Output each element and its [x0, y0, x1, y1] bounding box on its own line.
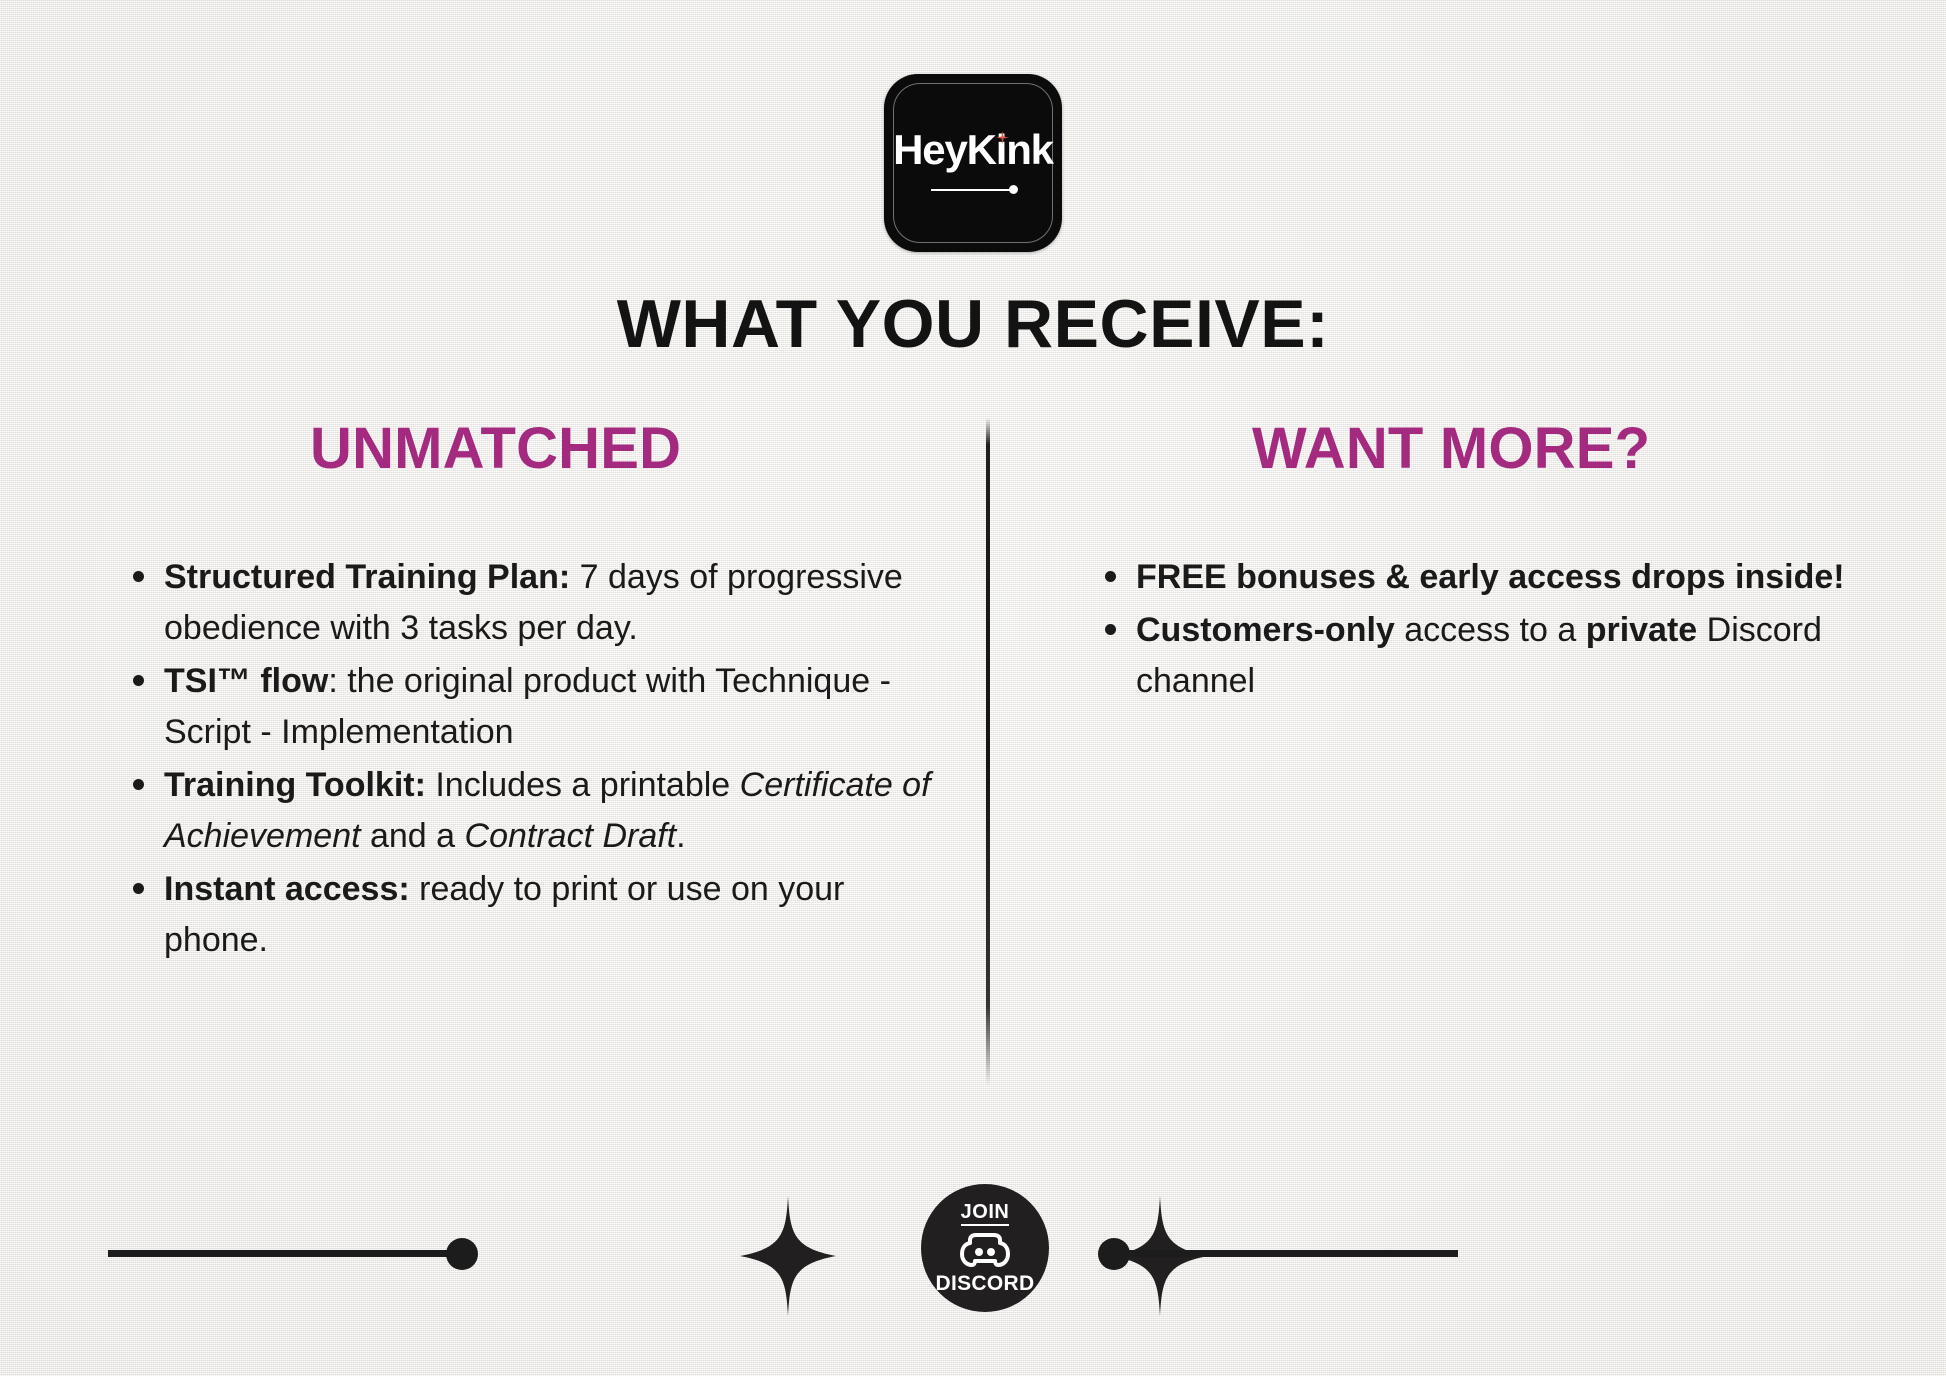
- list-item: FREE bonuses & early access drops inside…: [1136, 552, 1896, 603]
- list-item-tail: .: [676, 817, 685, 855]
- list-item: Structured Training Plan: 7 days of prog…: [164, 552, 954, 654]
- list-item: TSI™ flow: the original product with Tec…: [164, 656, 954, 758]
- sparkle-icon: [740, 1196, 836, 1316]
- bullet-dot-icon: [133, 571, 144, 582]
- bullet-dot-icon: [133, 779, 144, 790]
- column-divider: [986, 418, 990, 1086]
- join-discord-badge[interactable]: JOIN DISCORD: [921, 1184, 1049, 1312]
- promo-poster: HeyKink WHAT YOU RECEIVE: UNMATCHED WANT…: [0, 0, 1946, 1376]
- decorative-rule-right: [1128, 1250, 1458, 1257]
- bullet-dot-icon: [133, 675, 144, 686]
- page-title: WHAT YOU RECEIVE:: [0, 290, 1946, 358]
- list-item-lead: FREE bonuses & early access drops inside…: [1136, 558, 1845, 596]
- decorative-rule-left: [108, 1250, 456, 1257]
- discord-logo-icon: [958, 1230, 1012, 1270]
- list-item: Instant access: ready to print or use on…: [164, 864, 954, 966]
- list-item-bold-two: private: [1586, 611, 1698, 649]
- logo-underline-dot-icon: [1009, 185, 1018, 194]
- left-column-heading: UNMATCHED: [310, 420, 681, 478]
- list-item-lead: TSI™ flow: [164, 662, 328, 700]
- logo-underline-icon: [931, 189, 1015, 191]
- right-column-heading: WANT MORE?: [1252, 420, 1650, 478]
- bullet-dot-icon: [133, 883, 144, 894]
- left-feature-list: Structured Training Plan: 7 days of prog…: [118, 552, 954, 968]
- list-item-rest: access to a: [1395, 611, 1586, 649]
- list-item: Training Toolkit: Includes a printable C…: [164, 760, 954, 862]
- list-item-mid: and a: [361, 817, 465, 855]
- discord-join-label: JOIN: [961, 1202, 1010, 1226]
- logo-wordmark: HeyKink: [884, 126, 1062, 174]
- list-item-lead: Structured Training Plan:: [164, 558, 570, 596]
- list-item-lead: Instant access:: [164, 870, 410, 908]
- bullet-dot-icon: [1105, 624, 1116, 635]
- discord-name-label: DISCORD: [936, 1273, 1035, 1294]
- heykink-logo: HeyKink: [884, 74, 1062, 252]
- list-item-lead: Customers-only: [1136, 611, 1395, 649]
- list-item-rest: Includes a printable: [426, 766, 740, 804]
- decorative-rule-left-dot-icon: [446, 1238, 478, 1270]
- list-item: Customers-only access to a private Disco…: [1136, 605, 1896, 707]
- decorative-rule-right-dot-icon: [1098, 1238, 1130, 1270]
- list-item-lead: Training Toolkit:: [164, 766, 426, 804]
- list-item-italic-two: Contract Draft: [465, 817, 677, 855]
- right-feature-list: FREE bonuses & early access drops inside…: [1090, 552, 1896, 709]
- bullet-dot-icon: [1105, 571, 1116, 582]
